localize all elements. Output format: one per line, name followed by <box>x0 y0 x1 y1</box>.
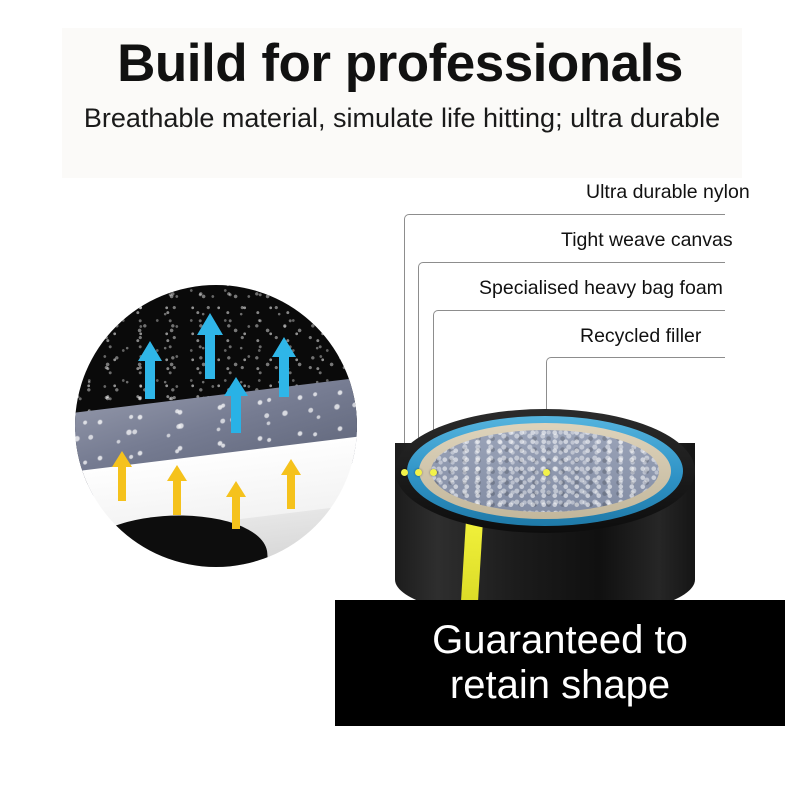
guarantee-banner-text: Guaranteed to retain shape <box>432 618 688 708</box>
vapor-arrow-blue-2 <box>196 313 224 379</box>
airflow-arrow-yellow-3 <box>225 481 247 529</box>
airflow-arrow-yellow-1 <box>111 451 133 501</box>
infographic-canvas: Build for professionals Breathable mater… <box>0 0 800 800</box>
heavy-bag-cutaway <box>385 405 705 620</box>
vapor-arrow-blue-3 <box>271 337 297 397</box>
breathability-inset <box>75 285 357 567</box>
leader-endpoint-canvas <box>415 469 422 476</box>
callout-label-tight-weave-canvas: Tight weave canvas <box>561 229 733 252</box>
callout-label-specialised-heavy-bag-foam: Specialised heavy bag foam <box>479 277 723 300</box>
guarantee-banner-line-2: retain shape <box>432 663 688 708</box>
guarantee-banner: Guaranteed to retain shape <box>335 600 785 726</box>
leader-endpoint-nylon <box>401 469 408 476</box>
breathability-illustration <box>75 285 357 567</box>
page-subtitle: Breathable material, simulate life hitti… <box>78 100 726 136</box>
leader-endpoint-foam <box>430 469 437 476</box>
airflow-arrow-yellow-2 <box>166 465 188 515</box>
page-title: Build for professionals <box>0 36 800 92</box>
callout-label-recycled-filler: Recycled filler <box>580 325 701 348</box>
guarantee-banner-line-1: Guaranteed to <box>432 618 688 663</box>
vapor-arrow-blue-4 <box>223 377 249 433</box>
vapor-arrow-blue-1 <box>137 341 163 399</box>
leader-endpoint-filler <box>543 469 550 476</box>
airflow-arrow-yellow-4 <box>280 459 302 509</box>
callout-label-ultra-durable-nylon: Ultra durable nylon <box>586 181 750 204</box>
